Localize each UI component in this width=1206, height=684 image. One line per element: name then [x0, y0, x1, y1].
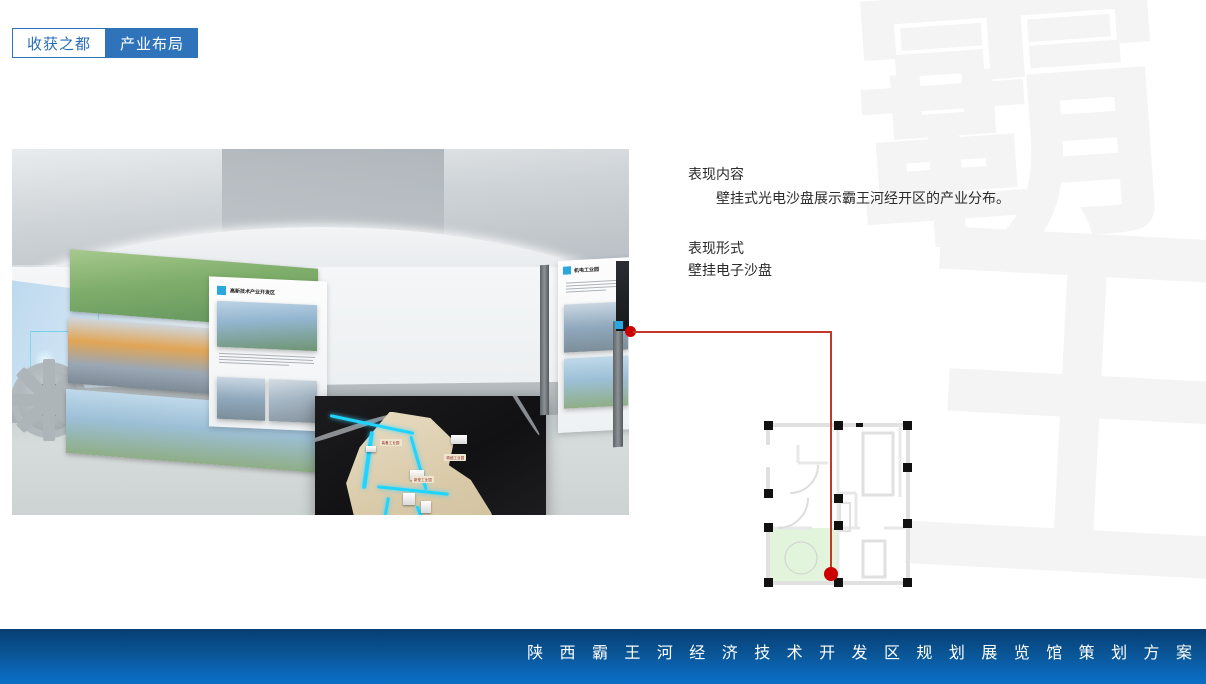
tab-industry-layout[interactable]: 产业布局 [106, 28, 198, 58]
building-model [403, 493, 415, 505]
panel-marker-square [615, 321, 623, 329]
spacer [688, 209, 1108, 237]
door-swing-arc [790, 465, 818, 493]
building-model [421, 501, 431, 513]
panel-photo [269, 379, 317, 423]
footer-title: 陕 西 霸 王 河 经 济 技 术 开 发 区 规 划 展 览 馆 策 划 方 … [527, 639, 1198, 663]
connector-horizontal-line [633, 331, 831, 333]
building-model [451, 435, 467, 444]
building-model [366, 446, 376, 452]
exhibition-render-photo[interactable]: 高新技术产业开发区 装备工业园 精细工业园 新型工业园 食品工业园 [12, 149, 629, 515]
panel-photo [217, 301, 317, 351]
wall-pillar [613, 321, 623, 448]
form-body: 壁挂电子沙盘 [688, 259, 1108, 281]
floor-plan-diagram[interactable] [760, 415, 920, 595]
connector-end-dot [824, 567, 838, 581]
content-body: 壁挂式光电沙盘展示霸王河经开区的产业分布。 [688, 187, 1108, 209]
room-outline [863, 541, 885, 577]
wall-mounted-sandtable[interactable]: 装备工业园 精细工业园 新型工业园 食品工业园 建材工业园 循环工业园 [315, 396, 546, 515]
footer-bar: 陕 西 霸 王 河 经 济 技 术 开 发 区 规 划 展 览 馆 策 划 方 … [0, 629, 1206, 684]
connector-vertical-line [830, 331, 832, 574]
info-board-high-tech: 高新技术产业开发区 [209, 276, 327, 431]
marble-vein [481, 396, 541, 436]
panel-marker-square [217, 286, 226, 295]
tab-bar: 收获之都 产业布局 [12, 28, 198, 58]
room-outline [863, 433, 893, 495]
tab-harvest-capital[interactable]: 收获之都 [12, 28, 106, 58]
description-block: 表现内容 壁挂式光电沙盘展示霸王河经开区的产业分布。 表现形式 壁挂电子沙盘 [688, 163, 1108, 281]
panel-marker-square [563, 266, 571, 274]
door-swing-arc [778, 498, 808, 528]
content-heading: 表现内容 [688, 163, 1108, 185]
form-heading: 表现形式 [688, 237, 1108, 259]
wall-pillar [540, 265, 549, 415]
panel-photo [217, 377, 265, 421]
panel-text-lines [219, 353, 315, 369]
